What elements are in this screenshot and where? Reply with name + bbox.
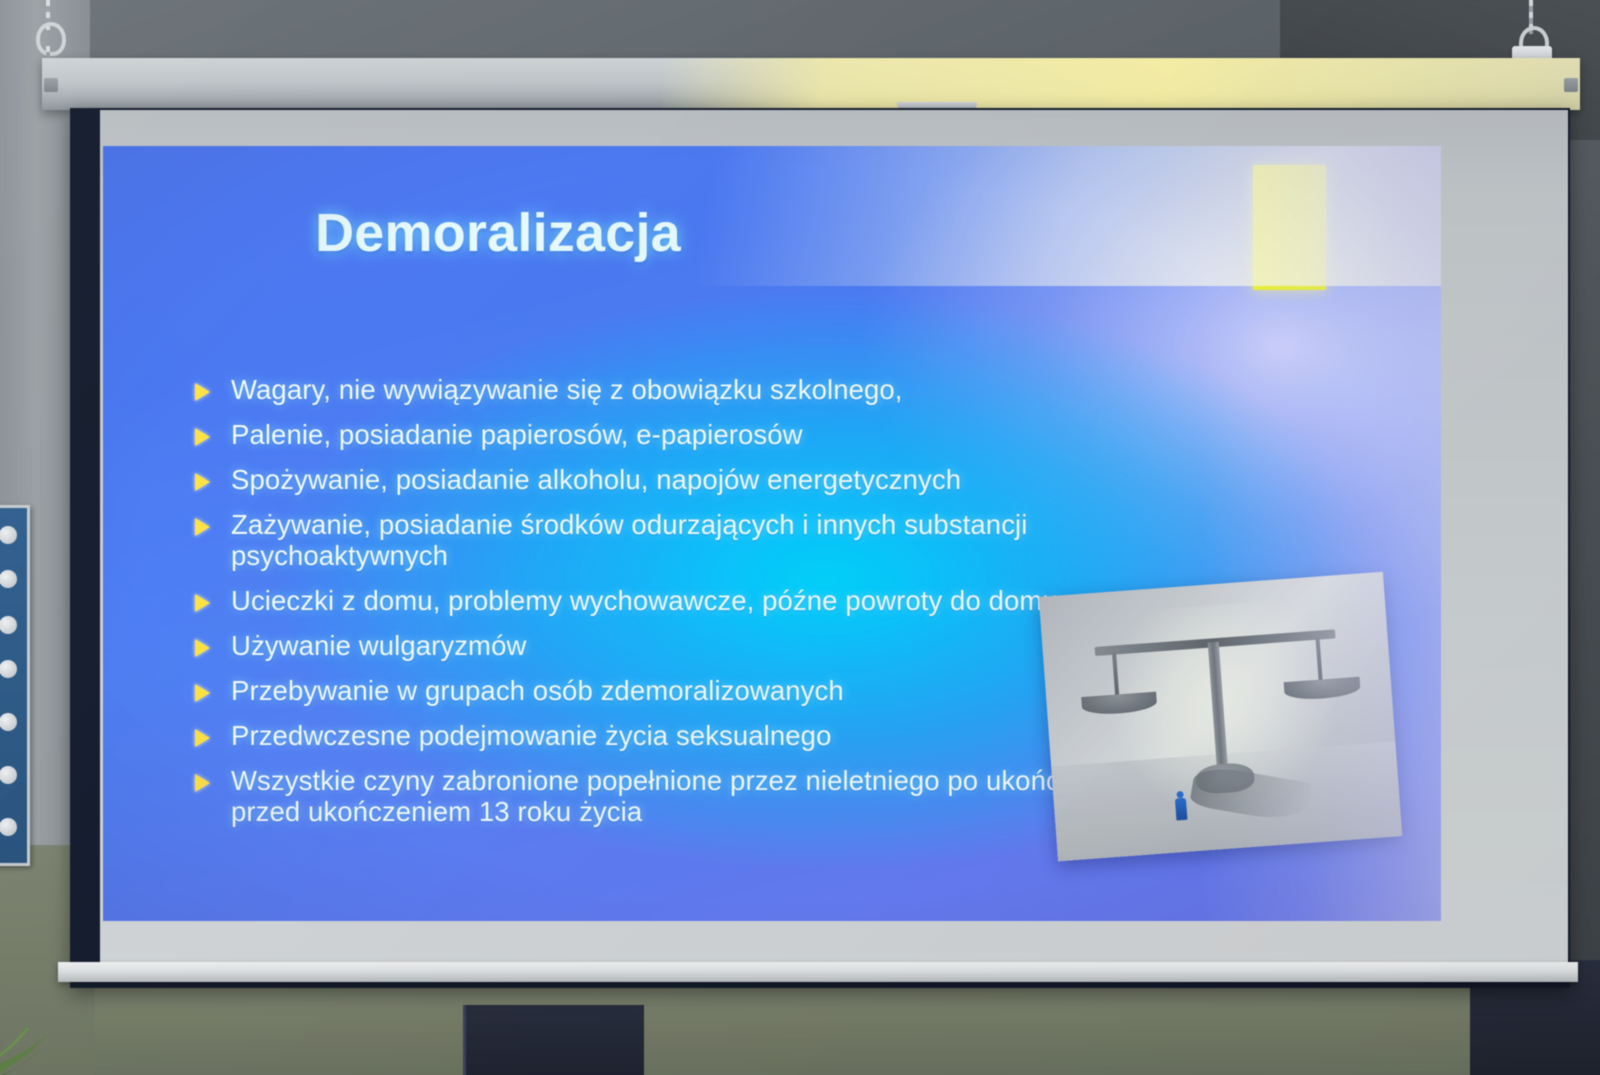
framed-poster: [0, 505, 30, 866]
dark-board-below-screen: [463, 1005, 644, 1075]
triangle-bullet-icon: [195, 473, 214, 492]
list-item: Wagary, nie wywiązywanie się z obowiązku…: [195, 374, 1205, 405]
triangle-bullet-icon: [195, 774, 214, 793]
yellow-note: [1253, 165, 1326, 290]
screen-housing[interactable]: [42, 58, 1580, 110]
bullet-text: Przebywanie w grupach osób zdemoralizowa…: [231, 675, 844, 706]
triangle-bullet-icon: [195, 383, 214, 402]
triangle-bullet-icon: [195, 518, 214, 537]
bullet-text: Palenie, posiadanie papierosów, e-papier…: [231, 419, 803, 450]
screenshot-root: Demoralizacja Wagary, nie wywiązywanie s…: [0, 0, 1600, 1075]
bullet-text: Używanie wulgaryzmów: [231, 630, 526, 661]
bullet-text: Spożywanie, posiadanie alkoholu, napojów…: [231, 464, 961, 495]
list-item: Spożywanie, posiadanie alkoholu, napojów…: [195, 464, 1205, 495]
room-wall-lower: [0, 975, 1600, 1075]
triangle-bullet-icon: [195, 594, 214, 613]
housing-endcap-left: [44, 78, 58, 92]
housing-light-glare: [662, 58, 1580, 110]
scales-of-justice-photo: [1039, 572, 1402, 862]
plant-leaf-icon: [0, 1008, 120, 1075]
triangle-bullet-icon: [195, 684, 214, 703]
bullet-text: Przedwczesne podejmowanie życia seksualn…: [231, 720, 831, 751]
mount-hook-left: [36, 22, 66, 56]
projected-slide: Demoralizacja Wagary, nie wywiązywanie s…: [103, 146, 1441, 921]
bullet-text: Zażywanie, posiadanie środków odurzający…: [231, 509, 1205, 571]
bullet-text: Ucieczki z domu, problemy wychowawcze, p…: [231, 585, 1058, 616]
screen-bottom-bar[interactable]: [58, 962, 1578, 982]
bullet-text: Wagary, nie wywiązywanie się z obowiązku…: [231, 374, 903, 405]
list-item: Zażywanie, posiadanie środków odurzający…: [195, 509, 1205, 571]
triangle-bullet-icon: [195, 639, 214, 658]
housing-endcap-right: [1564, 78, 1578, 92]
slide-title: Demoralizacja: [103, 202, 893, 264]
tiny-person-figure: [1174, 791, 1188, 822]
triangle-bullet-icon: [195, 428, 214, 447]
list-item: Palenie, posiadanie papierosów, e-papier…: [195, 419, 1205, 450]
triangle-bullet-icon: [195, 729, 214, 748]
